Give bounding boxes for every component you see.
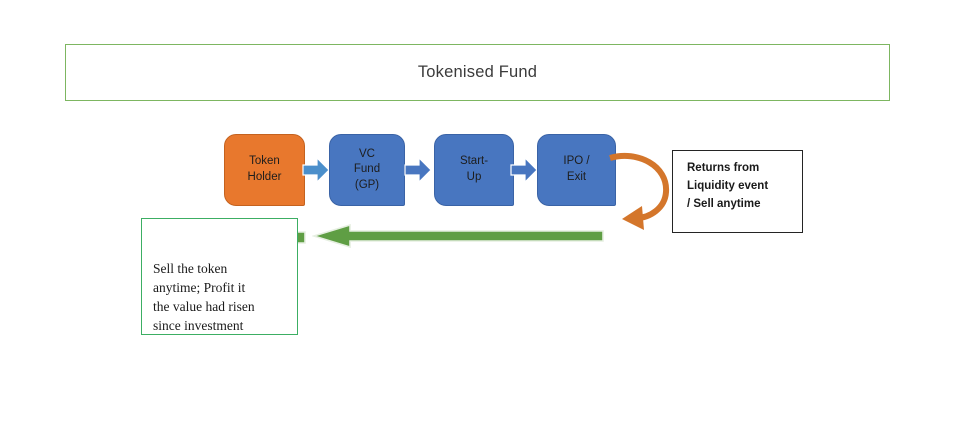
returns-note-line-2: Liquidity event [687,178,802,196]
flow-node-vc-fund[interactable]: VC Fund (GP) [329,134,405,206]
left-arrow-icon [312,224,604,248]
flow-node-vc-fund-line-2: Fund [354,162,380,178]
returns-note-line-3: / Sell anytime [687,196,802,214]
flow-node-start-up[interactable]: Start- Up [434,134,514,206]
right-chevron-arrow-icon [404,155,432,185]
flow-node-vc-fund-line-3: (GP) [354,178,380,194]
flow-node-ipo-exit-label: IPO / Exit [563,154,589,185]
right-chevron-arrow-icon [510,155,538,185]
flow-node-token-holder-line-1: Token [248,154,282,170]
sell-token-note-box: Sell the token anytime; Profit it the va… [141,218,298,335]
flow-node-token-holder-line-2: Holder [248,170,282,186]
flow-node-token-holder[interactable]: Token Holder [224,134,305,206]
flow-node-start-up-line-1: Start- [460,154,488,170]
flow-node-vc-fund-line-1: VC [354,147,380,163]
flow-node-ipo-exit-line-2: Exit [563,170,589,186]
flow-node-start-up-line-2: Up [460,170,488,186]
flow-node-vc-fund-label: VC Fund (GP) [354,147,380,194]
right-chevron-arrow-icon [302,155,330,185]
diagram-canvas: Tokenised Fund Token Holder VC Fund (GP)… [0,0,964,424]
returns-note-line-1: Returns from [687,160,802,178]
sell-token-note-line-3: the value had risen [153,297,297,316]
page-title: Tokenised Fund [418,63,537,82]
sell-token-note-line-1: Sell the token [153,259,297,278]
sell-token-note-line-2: anytime; Profit it [153,278,297,297]
flow-node-token-holder-label: Token Holder [248,154,282,185]
flow-node-ipo-exit-line-1: IPO / [563,154,589,170]
returns-note-box: Returns from Liquidity event / Sell anyt… [672,150,803,233]
sell-token-note-line-4: since investment [153,316,297,335]
flow-node-start-up-label: Start- Up [460,154,488,185]
flow-node-ipo-exit[interactable]: IPO / Exit [537,134,616,206]
title-banner: Tokenised Fund [65,44,890,101]
